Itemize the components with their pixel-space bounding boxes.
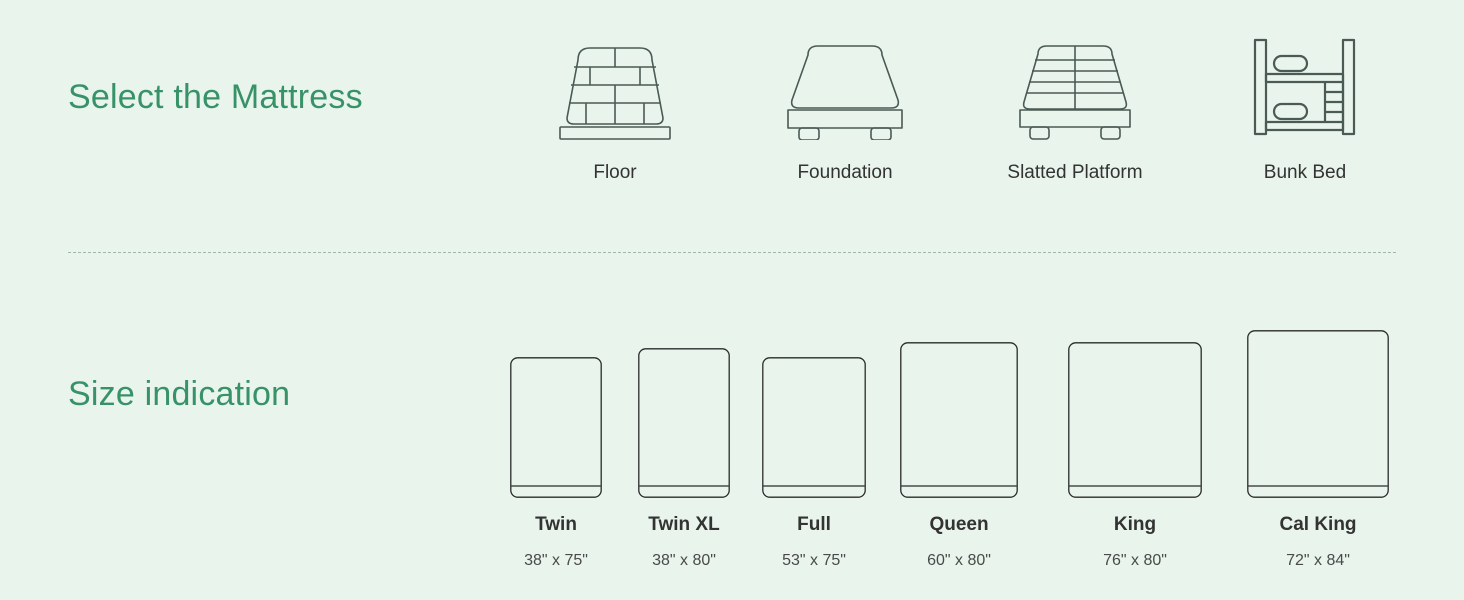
mattress-shape-icon: [510, 357, 602, 498]
mattress-shape-icon: [1247, 330, 1389, 498]
size-option-cal-king[interactable]: Cal King 72" x 84": [1247, 330, 1389, 570]
size-option-name: Full: [797, 514, 831, 536]
mattress-size-guide: Select the Mattress: [0, 0, 1464, 600]
size-option-name: Cal King: [1279, 514, 1356, 536]
size-option-dimensions: 38" x 80": [652, 552, 716, 570]
size-option-dimensions: 60" x 80": [927, 552, 991, 570]
mattress-shape-icon: [900, 342, 1018, 498]
foundation-base-icon: [775, 30, 915, 140]
mattress-size-options: Twin 38" x 75" Twin XL 38" x 80": [490, 270, 1410, 570]
base-option-label: Slatted Platform: [1007, 162, 1142, 184]
size-option-king[interactable]: King 76" x 80": [1068, 342, 1202, 570]
size-option-twin-xl[interactable]: Twin XL 38" x 80": [638, 348, 730, 570]
size-option-dimensions: 76" x 80": [1103, 552, 1167, 570]
size-option-dimensions: 53" x 75": [782, 552, 846, 570]
base-option-foundation[interactable]: Foundation: [730, 30, 960, 184]
mattress-on-floor-icon: [550, 30, 680, 140]
bunk-bed-icon: [1243, 30, 1368, 140]
base-option-floor[interactable]: Floor: [500, 30, 730, 184]
size-indication-section: Size indication Twin 38" x 75": [0, 252, 1464, 600]
mattress-base-options: Floor Foundation: [500, 30, 1420, 184]
size-option-twin[interactable]: Twin 38" x 75": [510, 357, 602, 570]
size-option-dimensions: 38" x 75": [524, 552, 588, 570]
size-option-full[interactable]: Full 53" x 75": [762, 357, 866, 570]
select-mattress-heading: Select the Mattress: [68, 78, 363, 117]
size-option-name: Queen: [929, 514, 988, 536]
mattress-shape-icon: [762, 357, 866, 498]
base-option-bunk-bed[interactable]: Bunk Bed: [1190, 30, 1420, 184]
size-option-name: King: [1114, 514, 1156, 536]
slatted-platform-icon: [1005, 30, 1145, 140]
size-option-name: Twin: [535, 514, 577, 536]
base-option-label: Bunk Bed: [1264, 162, 1346, 184]
base-option-label: Floor: [593, 162, 636, 184]
mattress-shape-icon: [1068, 342, 1202, 498]
select-mattress-section: Select the Mattress: [0, 0, 1464, 252]
size-option-name: Twin XL: [648, 514, 719, 536]
size-option-queen[interactable]: Queen 60" x 80": [900, 342, 1018, 570]
base-option-slatted-platform[interactable]: Slatted Platform: [960, 30, 1190, 184]
base-option-label: Foundation: [797, 162, 892, 184]
size-indication-heading: Size indication: [68, 375, 290, 414]
mattress-shape-icon: [638, 348, 730, 498]
size-option-dimensions: 72" x 84": [1286, 552, 1350, 570]
